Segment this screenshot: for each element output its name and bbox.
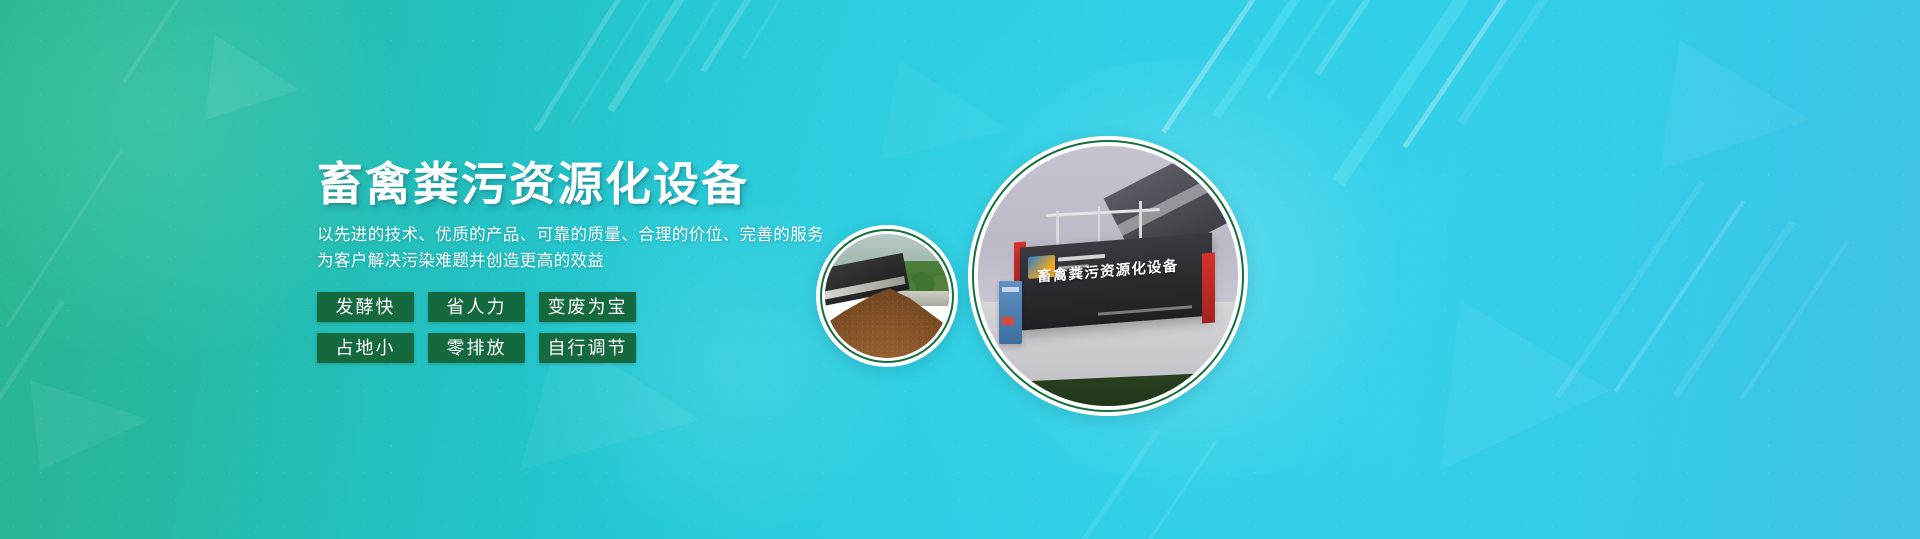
diagonal-streak-group <box>0 0 1920 539</box>
streak-icon <box>607 0 707 113</box>
pipe-post <box>1139 201 1142 240</box>
streak-icon <box>571 0 674 123</box>
container-end-cap-right <box>1202 252 1215 323</box>
streak-icon <box>742 0 808 58</box>
page-title: 畜禽粪污资源化设备 <box>317 160 957 210</box>
streak-icon <box>1315 0 1409 76</box>
streak-icon <box>1457 0 1592 125</box>
streak-icon <box>6 150 123 328</box>
streak-icon <box>1332 0 1511 187</box>
compost-photo-circle[interactable] <box>816 225 958 367</box>
equipment-render: 畜禽粪污资源化设备 <box>978 146 1238 406</box>
streak-icon <box>1673 220 1796 398</box>
streak-icon <box>1161 0 1294 133</box>
streak-icon <box>123 0 192 83</box>
streak-icon <box>1740 240 1850 400</box>
feature-tag-labor-saving[interactable]: 省人力 <box>428 292 525 322</box>
streak-icon <box>1266 0 1376 100</box>
pipe-post <box>1098 206 1101 242</box>
control-panel <box>999 281 1022 343</box>
streak-icon <box>1213 0 1338 119</box>
feature-tag-waste-to-treasure[interactable]: 变废为宝 <box>539 292 636 322</box>
feature-tag-list: 发酵快 省人力 变废为宝 占地小 零排放 自行调节 <box>317 292 657 363</box>
equipment-render-circle[interactable]: 畜禽粪污资源化设备 <box>968 136 1248 416</box>
feature-tag-small-footprint[interactable]: 占地小 <box>317 333 414 363</box>
feature-tag-zero-emission[interactable]: 零排放 <box>428 333 525 363</box>
streak-icon <box>1555 180 1705 399</box>
feature-tag-self-adjusting[interactable]: 自行调节 <box>539 333 636 363</box>
streak-icon <box>1613 200 1745 393</box>
triangle-decor-icon <box>0 0 1920 539</box>
streak-icon <box>700 0 777 73</box>
streak-icon <box>665 0 748 84</box>
streak-icon <box>1403 0 1553 148</box>
compost-photo <box>825 234 949 358</box>
streak-icon <box>1077 430 1159 539</box>
streak-icon <box>534 0 644 132</box>
streak-icon <box>1148 440 1218 539</box>
speckle-texture <box>0 0 1920 539</box>
streak-icon <box>0 300 64 454</box>
feature-tag-fermentation-fast[interactable]: 发酵快 <box>317 292 414 322</box>
pipe-post <box>1056 211 1059 245</box>
promo-banner: 畜禽粪污资源化设备 以先进的技术、优质的产品、可靠的质量、合理的价位、完善的服务… <box>0 0 1920 539</box>
